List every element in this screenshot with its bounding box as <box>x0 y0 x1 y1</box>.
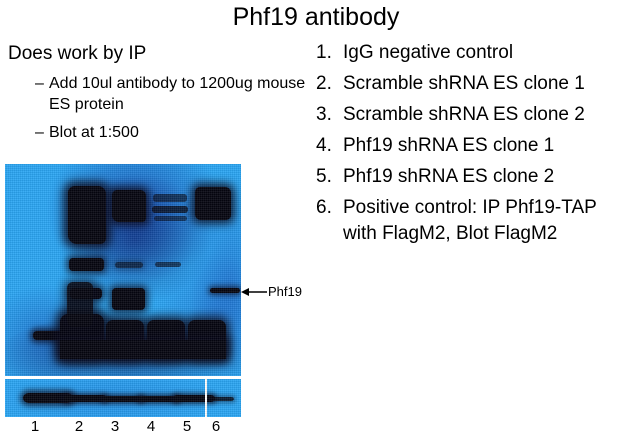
blot-band-bottom <box>67 282 93 327</box>
blot-loading-control-panel <box>5 379 241 417</box>
blot-band <box>153 194 187 202</box>
blot-band-phf19 <box>210 288 240 293</box>
blot-lane-numbers: 1 2 3 4 5 6 <box>5 418 241 438</box>
list-item-number: 6. <box>316 195 343 221</box>
phf19-annotation-label: Phf19 <box>268 283 302 301</box>
blot-loading-band <box>173 395 215 402</box>
dash-bullet-icon: – <box>35 122 49 143</box>
lane-number: 3 <box>107 418 123 436</box>
list-item-number: 1. <box>316 40 343 66</box>
list-item: 2. Scramble shRNA ES clone 1 <box>316 71 632 97</box>
sample-legend-list: 1. IgG negative control 2. Scramble shRN… <box>316 40 632 252</box>
blot-band <box>69 258 104 271</box>
list-item: 6. Positive control: IP Phf19-TAP with F… <box>316 195 632 247</box>
sub-bullet-blot-dilution: – Blot at 1:500 <box>35 122 308 143</box>
left-arrow-icon <box>241 285 268 299</box>
list-item-label: Phf19 shRNA ES clone 2 <box>343 164 632 190</box>
list-item-number: 2. <box>316 71 343 97</box>
blot-band <box>154 216 187 221</box>
lane-number: 4 <box>143 418 159 436</box>
blot-band <box>112 288 145 310</box>
list-item-label: Positive control: IP Phf19-TAP with Flag… <box>343 195 632 247</box>
lane-number: 2 <box>71 418 87 436</box>
blot-band <box>115 262 143 268</box>
blot-band <box>195 187 231 220</box>
blot-loading-band <box>63 395 107 402</box>
list-item-number: 3. <box>316 102 343 128</box>
list-item-label: IgG negative control <box>343 40 632 66</box>
list-item-label: Scramble shRNA ES clone 2 <box>343 102 632 128</box>
left-text-column: Does work by IP – Add 10ul antibody to 1… <box>8 42 308 143</box>
list-item: 1. IgG negative control <box>316 40 632 66</box>
blot-band <box>152 206 188 213</box>
list-item: 5. Phf19 shRNA ES clone 2 <box>316 164 632 190</box>
page-title: Phf19 antibody <box>0 2 632 32</box>
dash-bullet-icon: – <box>35 73 49 94</box>
western-blot-figure: 1 2 3 4 5 6 <box>5 164 241 436</box>
sub-bullet-label: Add 10ul antibody to 1200ug mouse ES pro… <box>49 73 308 115</box>
blot-band <box>155 262 181 267</box>
blot-band <box>68 186 106 244</box>
lane-number: 1 <box>27 418 43 436</box>
list-item-number: 5. <box>316 164 343 190</box>
blot-main-panel <box>5 164 241 376</box>
sub-bullet-label: Blot at 1:500 <box>49 122 308 143</box>
list-item-label: Scramble shRNA ES clone 1 <box>343 71 632 97</box>
list-item-label: Phf19 shRNA ES clone 1 <box>343 133 632 159</box>
list-item: 4. Phf19 shRNA ES clone 1 <box>316 133 632 159</box>
sub-bullet-antibody-amount: – Add 10ul antibody to 1200ug mouse ES p… <box>35 73 308 115</box>
list-item-number: 4. <box>316 133 343 159</box>
bullet-heading: Does work by IP <box>8 42 308 66</box>
list-item: 3. Scramble shRNA ES clone 2 <box>316 102 632 128</box>
lane-number: 6 <box>208 418 224 436</box>
blot-lane-divider <box>205 379 207 417</box>
lane-number: 5 <box>179 418 195 436</box>
blot-band-bottom <box>60 340 226 359</box>
blot-loading-band <box>212 397 234 401</box>
blot-band <box>112 190 146 222</box>
